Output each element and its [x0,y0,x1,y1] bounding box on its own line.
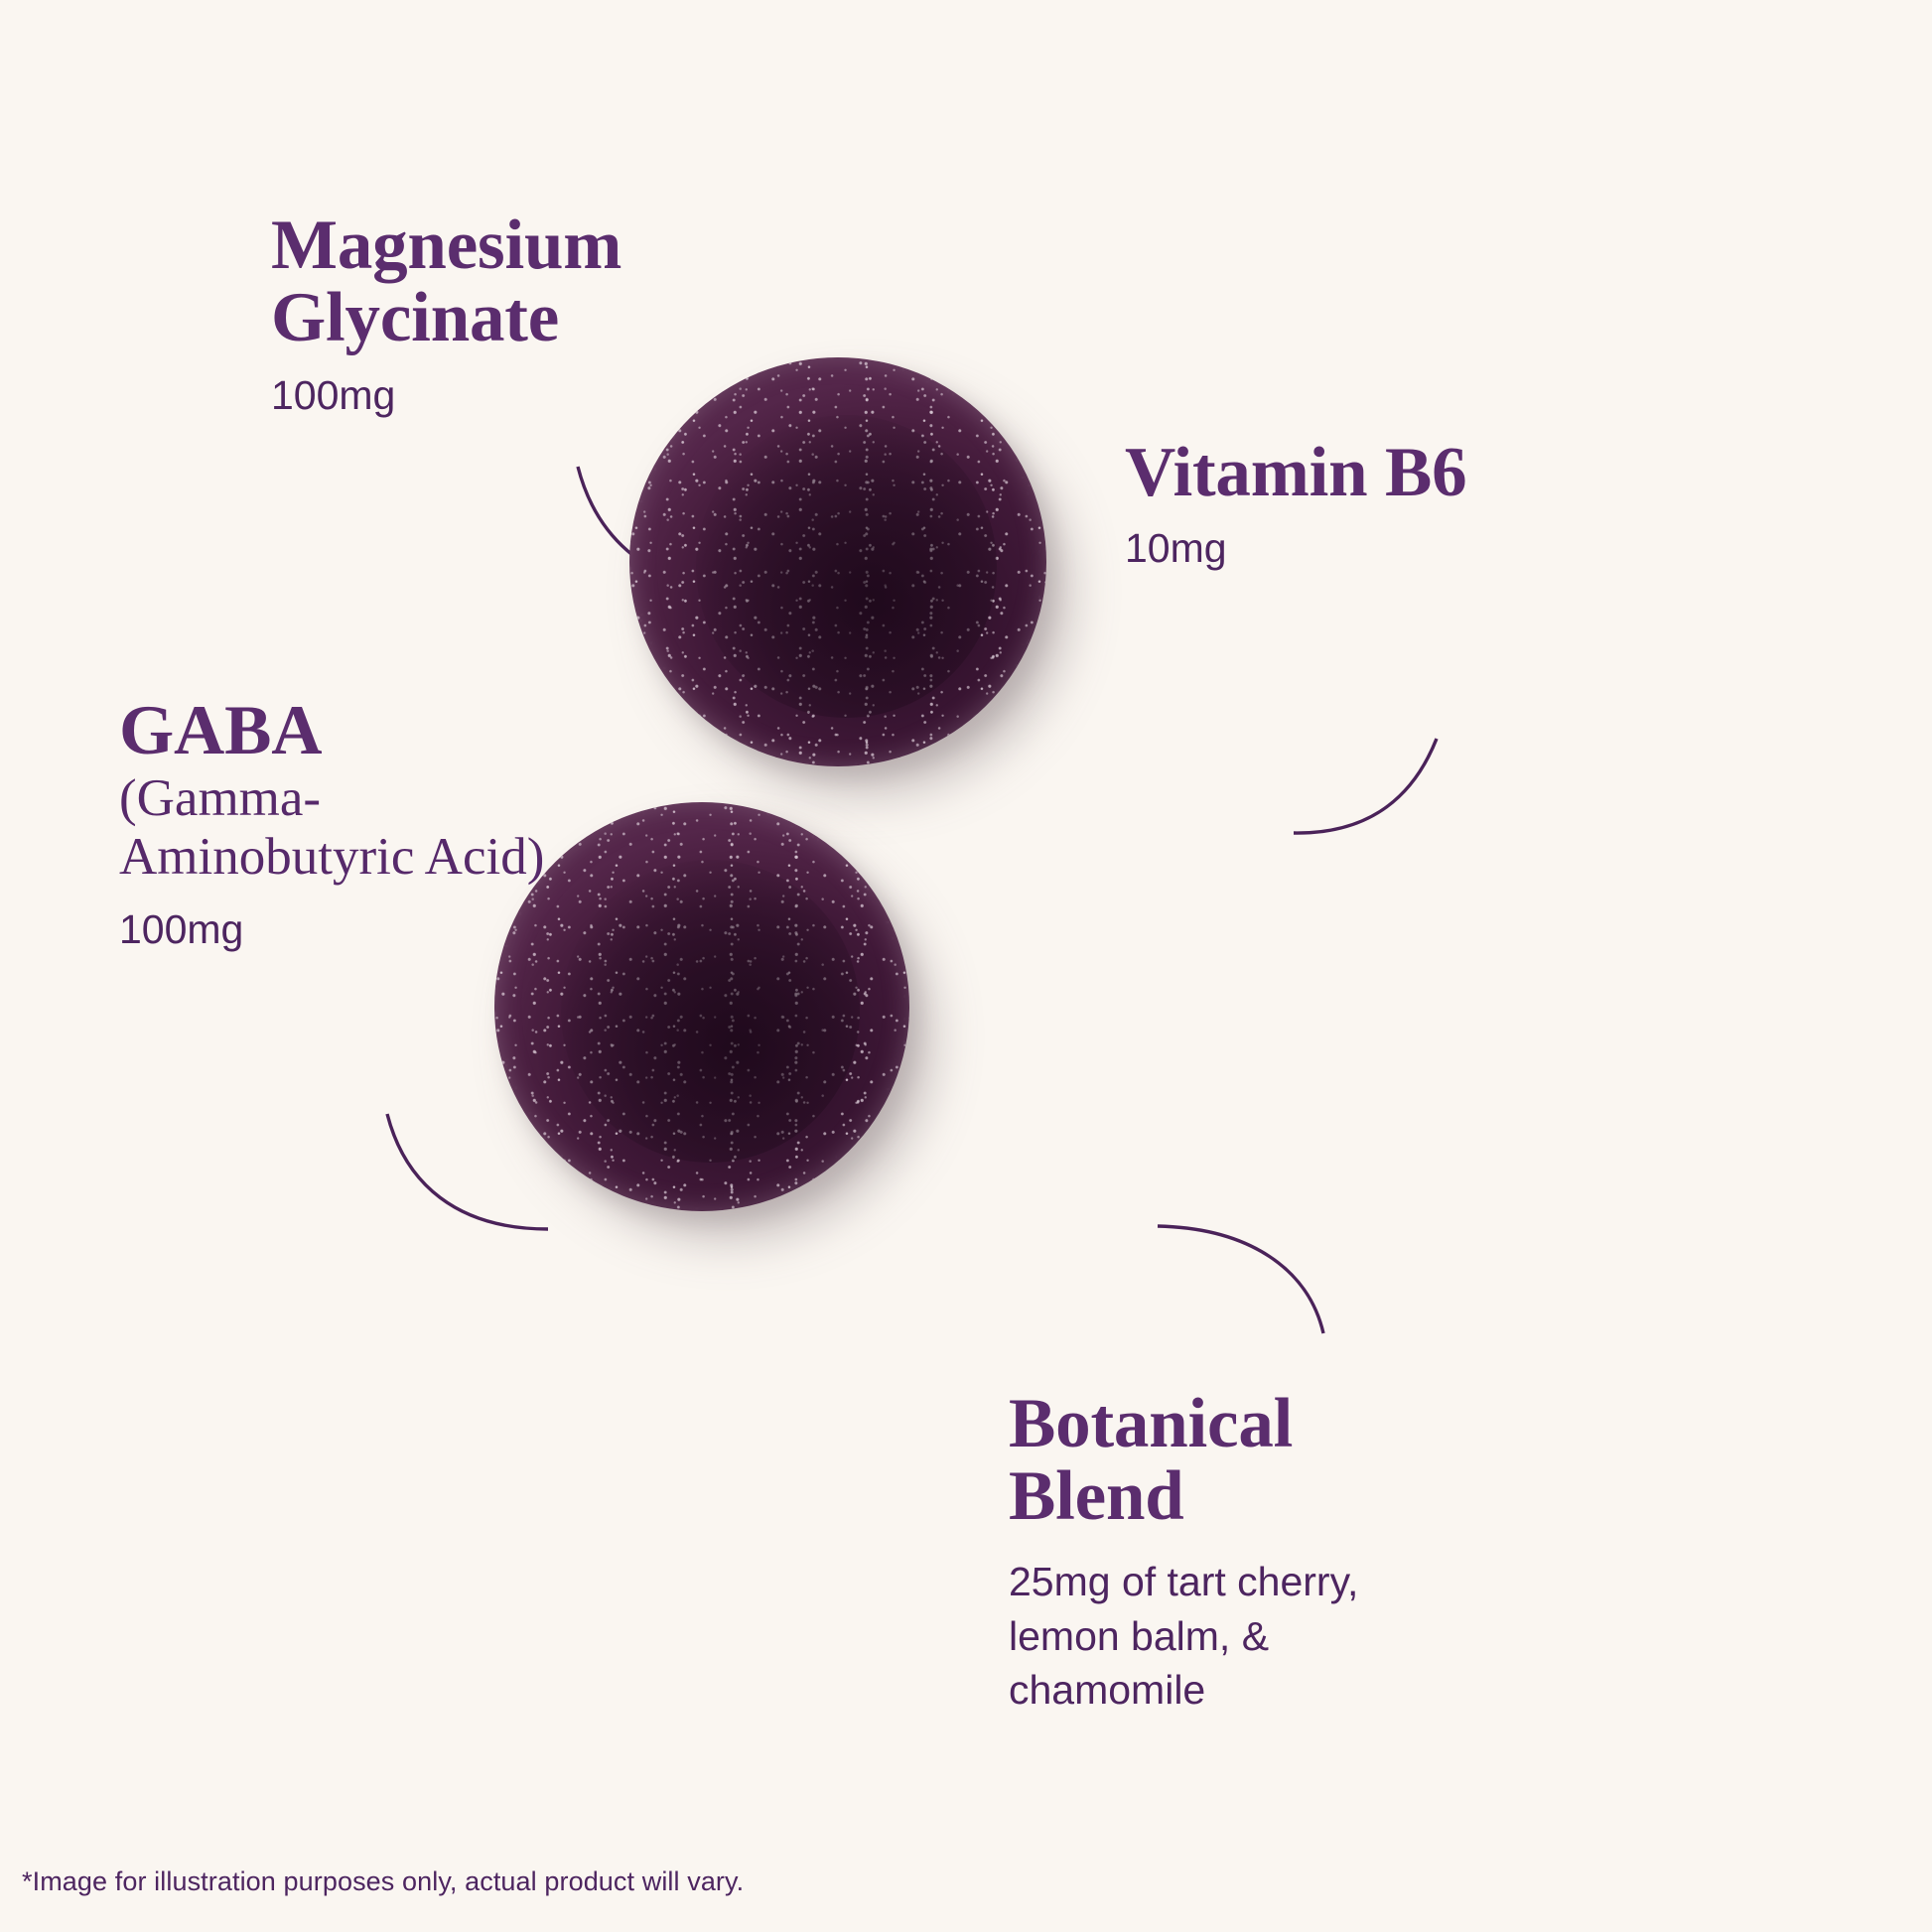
gaba-subhead-line1: (Gamma- [119,769,735,828]
magnesium-heading-line2: Glycinate [271,282,906,354]
label-gaba: GABA (Gamma- Aminobutyric Acid) 100mg [119,695,735,954]
botanical-dose-line2: lemon balm, & [1009,1609,1624,1664]
magnesium-dose: 100mg [271,371,906,420]
leader-line-botanical [1158,1226,1323,1333]
gaba-heading: GABA [119,695,735,767]
botanical-heading-line1: Botanical [1009,1388,1624,1460]
vitamin-b6-heading: Vitamin B6 [1125,437,1820,509]
product-ingredient-diagram: Magnesium Glycinate 100mg Vitamin B6 10m… [0,0,1932,1932]
leader-line-vitamin-b6 [1294,739,1437,833]
magnesium-heading: Magnesium Glycinate [271,209,906,354]
botanical-dose: 25mg of tart cherry, lemon balm, & chamo… [1009,1555,1624,1718]
gaba-subhead: (Gamma- Aminobutyric Acid) [119,769,735,888]
vitamin-b6-dose: 10mg [1125,524,1820,573]
disclaimer-footnote: *Image for illustration purposes only, a… [22,1866,744,1897]
gaba-subhead-line2: Aminobutyric Acid) [119,828,735,887]
leader-line-gaba [387,1114,548,1229]
botanical-dose-line1: 25mg of tart cherry, [1009,1555,1624,1609]
gummy-center-shade [696,415,996,718]
gaba-dose: 100mg [119,905,735,954]
botanical-dose-line3: chamomile [1009,1663,1624,1718]
botanical-heading: Botanical Blend [1009,1388,1624,1533]
botanical-heading-line2: Blend [1009,1460,1624,1533]
label-magnesium-glycinate: Magnesium Glycinate 100mg [271,209,906,420]
magnesium-heading-line1: Magnesium [271,209,906,282]
label-botanical-blend: Botanical Blend 25mg of tart cherry, lem… [1009,1388,1624,1718]
label-vitamin-b6: Vitamin B6 10mg [1125,437,1820,573]
